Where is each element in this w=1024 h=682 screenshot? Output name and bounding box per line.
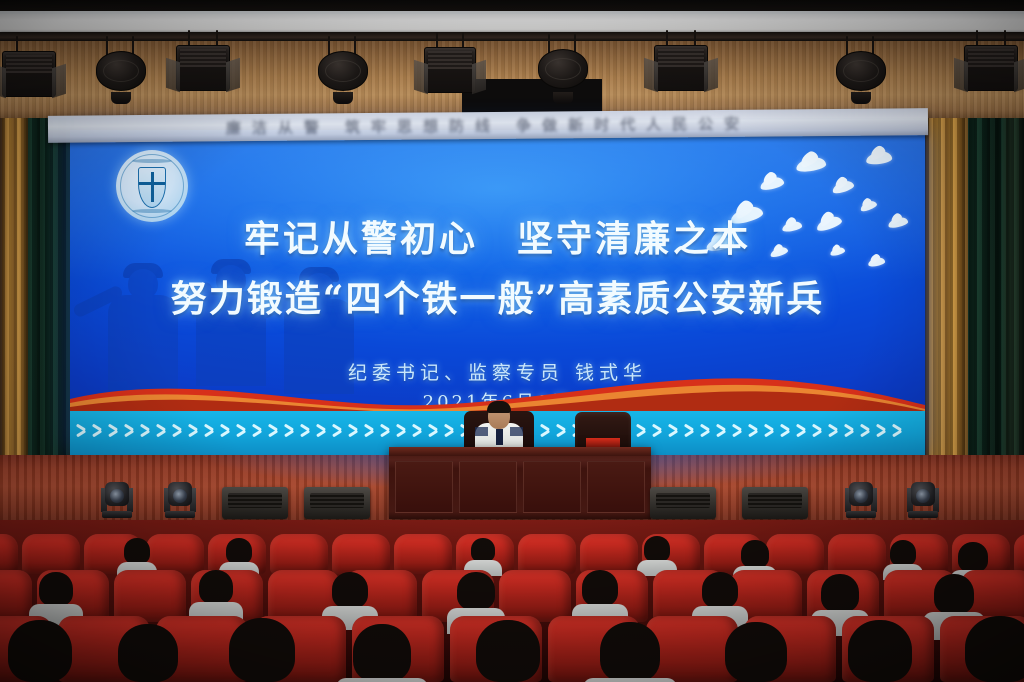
audience-member: [738, 534, 772, 568]
audience-member: [580, 566, 620, 606]
chevron-icon: [540, 423, 549, 439]
audience-member: [600, 622, 660, 682]
chevron-icon: [188, 423, 197, 439]
screen-headline-line1: 牢记从警初心 坚守清廉之本: [70, 210, 925, 262]
chevron-icon: [92, 423, 101, 439]
audience-member: [478, 622, 538, 682]
chevron-icon: [204, 423, 213, 439]
stage-light-fixture-1: [2, 36, 56, 100]
chevron-icon: [828, 423, 837, 439]
chevron-icon: [252, 423, 261, 439]
moving-head-light-2: [163, 478, 197, 518]
chevron-icon: [668, 423, 677, 439]
chevron-icon: [444, 423, 453, 439]
speaker-necktie: [496, 429, 503, 445]
moving-head-light-1: [100, 478, 134, 518]
theater-seat: [0, 534, 18, 574]
stage-light-fixture-5: [424, 32, 476, 100]
chevron-icon: [700, 423, 709, 439]
audience-member: [10, 622, 70, 682]
audience-member: [232, 622, 292, 682]
chevron-icon: [300, 423, 309, 439]
theater-seat: [1014, 534, 1024, 574]
podium-desktop-edge: [389, 447, 651, 456]
chevron-icon: [860, 423, 869, 439]
theater-seat: [114, 570, 186, 622]
audience-seating-area: [0, 520, 1024, 682]
theater-seat: [766, 534, 824, 574]
audience-member: [36, 566, 76, 606]
theater-seat: [499, 570, 571, 622]
chevron-icon: [892, 423, 901, 439]
audience-member: [970, 622, 1024, 682]
screen-headline-line2: 努力锻造“四个铁一般”高素质公安新兵: [70, 270, 925, 322]
chevron-icon: [796, 423, 805, 439]
chevron-icon: [124, 423, 133, 439]
theater-seat: [270, 534, 328, 574]
audience-member: [850, 622, 910, 682]
speaker-hair: [487, 401, 511, 413]
stage-light-fixture-9: [964, 30, 1018, 100]
chevron-icon: [748, 423, 757, 439]
audience-member: [700, 568, 740, 608]
podium-panel: [459, 461, 517, 513]
audience-member: [118, 622, 178, 682]
audience-member: [640, 528, 674, 562]
stage-light-fixture-3: [176, 30, 230, 100]
chevron-icon: [412, 423, 421, 439]
chevron-icon: [348, 423, 357, 439]
stage-monitor-speaker-2: [304, 487, 370, 519]
audience-member: [120, 530, 154, 564]
chevron-icon: [172, 423, 181, 439]
podium-panel: [395, 461, 453, 513]
chevron-icon: [556, 423, 565, 439]
chevron-icon: [380, 423, 389, 439]
chevron-icon: [764, 423, 773, 439]
desk-nameplate: [586, 438, 620, 447]
stage-light-fixture-8: [836, 36, 886, 96]
shoulder-board-right: [510, 427, 523, 436]
podium-front-panels: [395, 461, 645, 513]
podium-panel: [523, 461, 581, 513]
audience-member: [726, 622, 786, 682]
podium-panel: [587, 461, 645, 513]
chevron-icon: [108, 423, 117, 439]
chevron-icon: [732, 423, 741, 439]
audience-member: [196, 564, 236, 604]
chevron-icon: [876, 423, 885, 439]
chevron-icon: [636, 423, 645, 439]
theater-seat: [518, 534, 576, 574]
shoulder-board-left: [475, 427, 488, 436]
audience-member: [934, 574, 974, 614]
theater-seat: [394, 534, 452, 574]
stage-monitor-speaker-1: [222, 487, 288, 519]
audience-member: [886, 532, 920, 566]
seat-row-middle: [0, 570, 1024, 622]
audience-member: [956, 538, 990, 572]
audience-member: [820, 572, 860, 612]
theater-seat: [828, 534, 886, 574]
stage-monitor-speaker-4: [742, 487, 808, 519]
chevron-icon: [780, 423, 789, 439]
banner-text: 廉洁从警 筑牢思想防线 争做新时代人民公安: [48, 111, 928, 140]
stage-monitor-speaker-3: [650, 487, 716, 519]
chevron-icon: [844, 423, 853, 439]
speakers-podium-desk: [389, 447, 651, 519]
chevron-icon: [684, 423, 693, 439]
audience-member: [330, 568, 370, 608]
stage-light-fixture-7: [654, 30, 708, 100]
audience-member: [466, 528, 500, 562]
chevron-icon: [716, 423, 725, 439]
chevron-icon: [396, 423, 405, 439]
stage-light-fixture-2: [96, 36, 146, 96]
moving-head-light-3: [844, 478, 878, 518]
chevron-icon: [316, 423, 325, 439]
chevron-icon: [428, 423, 437, 439]
chevron-icon: [812, 423, 821, 439]
chevron-icon: [236, 423, 245, 439]
stage-light-fixture-4: [318, 36, 368, 96]
moving-head-light-4: [906, 478, 940, 518]
chevron-icon: [284, 423, 293, 439]
audience-member: [456, 570, 496, 610]
chevron-icon: [140, 423, 149, 439]
chevron-icon: [652, 423, 661, 439]
audience-member: [222, 530, 256, 564]
chevron-icon: [268, 423, 277, 439]
chevron-icon: [156, 423, 165, 439]
chevron-icon: [76, 423, 85, 439]
stage-light-fixture-6: [538, 34, 588, 96]
seated-speaker: [470, 403, 528, 453]
auditorium-photo: 牢记从警初心 坚守清廉之本 努力锻造“四个铁一般”高素质公安新兵 纪委书记、监察…: [0, 0, 1024, 682]
chevron-icon: [220, 423, 229, 439]
chevron-icon: [332, 423, 341, 439]
chevron-icon: [364, 423, 373, 439]
theater-seat: [0, 570, 32, 622]
audience-member: [352, 622, 412, 682]
